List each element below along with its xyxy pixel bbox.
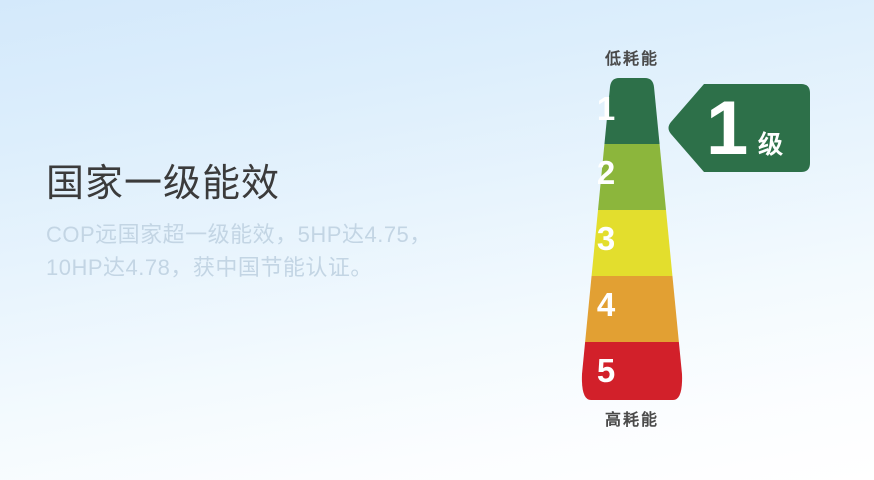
grade-badge: 1 级 (668, 82, 810, 174)
text-block: 国家一级能效 COP远国家超一级能效，5HP达4.75， 10HP达4.78，获… (46, 160, 516, 284)
subtitle-line-1: COP远国家超一级能效，5HP达4.75， (46, 218, 516, 251)
page-title: 国家一级能效 (46, 160, 516, 208)
energy-efficiency-label: 低耗能 1 2 3 4 5 高耗能 (500, 34, 840, 444)
band-grade-3: 3 (576, 222, 636, 255)
band-grade-4: 4 (576, 288, 636, 321)
badge-grade-unit: 级 (758, 130, 783, 160)
band-grade-2: 2 (576, 156, 636, 189)
high-consumption-label: 高耗能 (542, 406, 722, 430)
band-grade-5: 5 (576, 354, 636, 387)
subtitle: COP远国家超一级能效，5HP达4.75， 10HP达4.78，获中国节能认证。 (46, 218, 516, 284)
subtitle-line-2: 10HP达4.78，获中国节能认证。 (46, 251, 516, 284)
slide-canvas: 国家一级能效 COP远国家超一级能效，5HP达4.75， 10HP达4.78，获… (0, 0, 874, 480)
band-grade-1: 1 (576, 92, 636, 125)
low-consumption-label: 低耗能 (542, 45, 722, 69)
badge-grade-number: 1 (706, 86, 748, 172)
